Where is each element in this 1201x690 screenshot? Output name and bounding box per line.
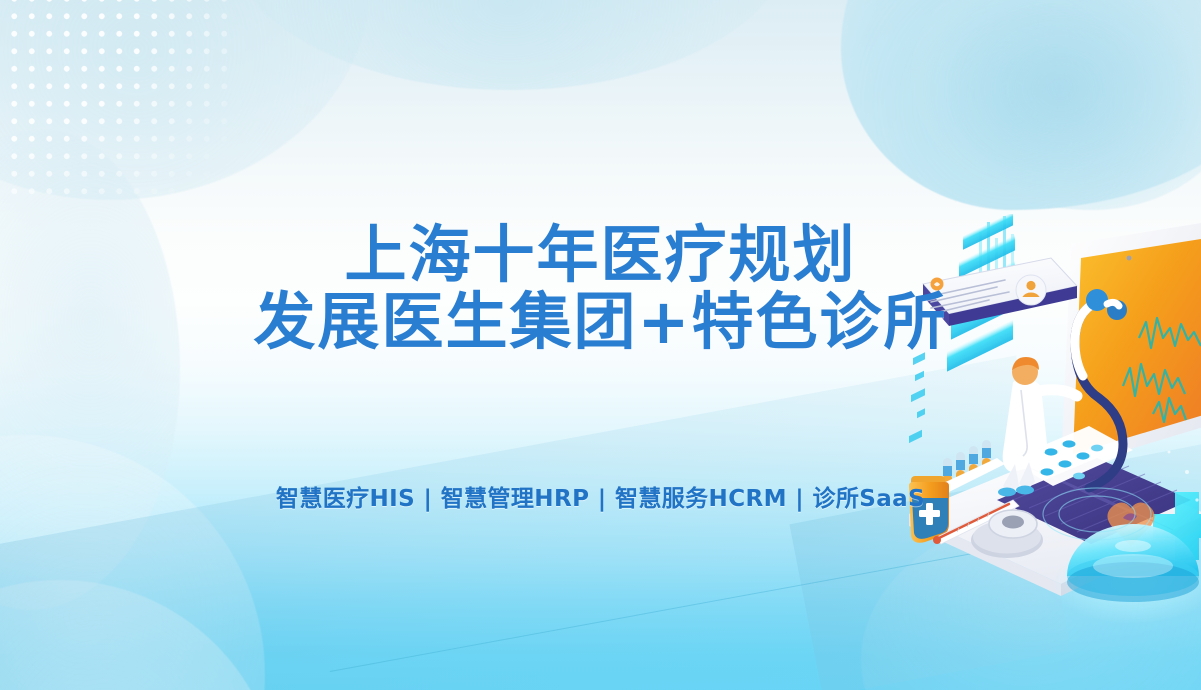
page-title: 上海十年医疗规划 发展医生集团+特色诊所 [254, 222, 948, 356]
banner-text-block: 上海十年医疗规划 发展医生集团+特色诊所 智慧医疗HIS | 智慧管理HRP |… [0, 0, 1201, 690]
headline-line-2: 发展医生集团+特色诊所 [254, 289, 948, 356]
banner-canvas: 上海十年医疗规划 发展医生集团+特色诊所 智慧医疗HIS | 智慧管理HRP |… [0, 0, 1201, 690]
headline-line-1: 上海十年医疗规划 [344, 218, 856, 291]
banner-subtitle: 智慧医疗HIS | 智慧管理HRP | 智慧服务HCRM | 诊所SaaS [276, 479, 925, 513]
